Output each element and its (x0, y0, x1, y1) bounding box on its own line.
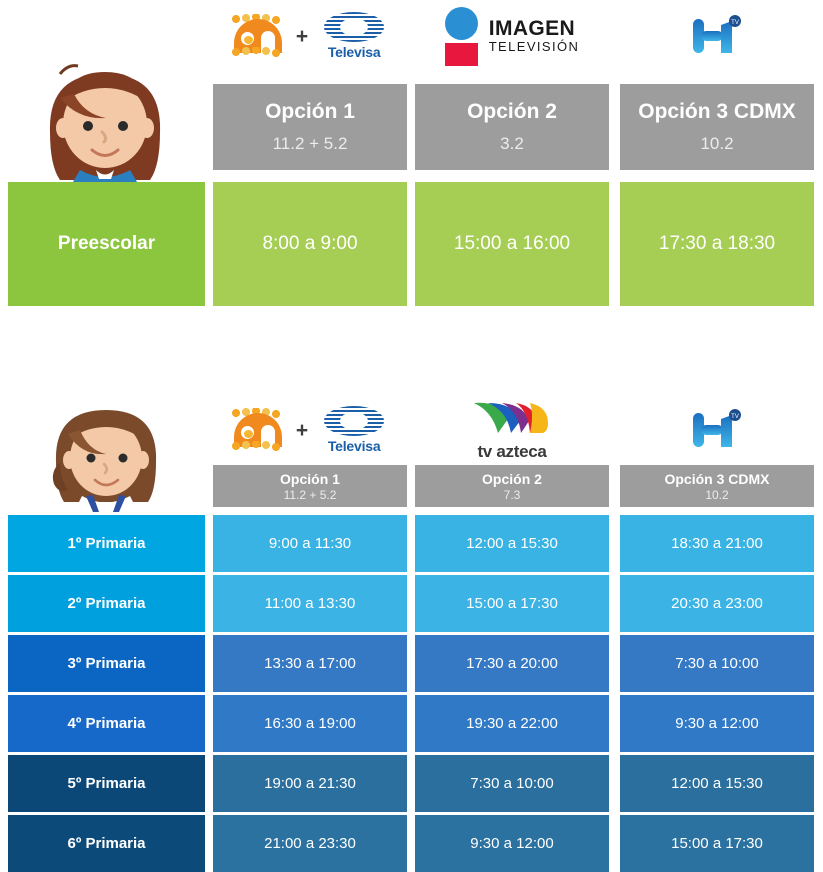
cell-time-text: 17:30 a 18:30 (659, 233, 775, 255)
cell-5primaria-opcion-3: 12:00 a 15:30 (620, 755, 814, 812)
hi-tv-logo: TV (677, 11, 757, 61)
logo-group-imagen: IMAGEN TELEVISIÓN (415, 0, 609, 72)
tv-azteca-swoosh-icon (464, 399, 560, 439)
row-label-5-primaria: 5º Primaria (8, 755, 205, 812)
cell-time-text: 16:30 a 19:00 (264, 715, 356, 732)
cell-4primaria-opcion-2: 19:30 a 22:00 (415, 695, 609, 752)
row-label-text: 1º Primaria (67, 535, 145, 552)
cell-3primaria-opcion-1: 13:30 a 17:00 (213, 635, 407, 692)
row-label-text: 2º Primaria (67, 595, 145, 612)
option-channels: 11.2 + 5.2 (284, 488, 337, 502)
girl-long-hair-svg (30, 62, 180, 187)
cell-preescolar-opcion-1: 8:00 a 9:00 (213, 182, 407, 306)
option-header-1: Opción 1 11.2 + 5.2 (213, 84, 407, 170)
televisa-logo: Televisa (315, 406, 393, 454)
row-label-2-primaria: 2º Primaria (8, 575, 205, 632)
avatar-girl-short-hair (38, 400, 173, 517)
logo-group-once-televisa: + Televisa (213, 394, 407, 466)
televisa-wordmark: Televisa (315, 438, 393, 454)
cell-time-text: 20:30 a 23:00 (671, 595, 763, 612)
logo-group-azteca: tv azteca (415, 394, 609, 466)
option-header-3: Opción 3 CDMX 10.2 (620, 465, 814, 507)
televisa-oval-icon (324, 406, 384, 436)
hi-tv-logo: TV (677, 405, 757, 455)
option-title: Opción 2 (482, 471, 542, 487)
option-channels: 10.2 (705, 488, 728, 502)
avatar-girl-long-hair (30, 62, 180, 192)
cell-time-text: 21:00 a 23:30 (264, 835, 356, 852)
plus-icon: + (296, 420, 308, 441)
televisa-oval-icon (324, 12, 384, 42)
imagen-square-icon (445, 43, 478, 66)
cell-5primaria-opcion-2: 7:30 a 10:00 (415, 755, 609, 812)
tv-azteca-wordmark: tv azteca (464, 442, 560, 462)
row-label-text: Preescolar (58, 233, 155, 255)
cell-time-text: 9:00 a 11:30 (269, 535, 351, 552)
row-label-4-primaria: 4º Primaria (8, 695, 205, 752)
option-header-3: Opción 3 CDMX 10.2 (620, 84, 814, 170)
imagen-marks (445, 7, 481, 66)
cell-time-text: 15:00 a 16:00 (454, 233, 570, 255)
cell-time-text: 19:00 a 21:30 (264, 775, 356, 792)
cell-time-text: 17:30 a 20:00 (466, 655, 558, 672)
option-header-1: Opción 1 11.2 + 5.2 (213, 465, 407, 507)
hi-tv-svg: TV (677, 405, 757, 455)
cell-5primaria-opcion-1: 19:00 a 21:30 (213, 755, 407, 812)
option-header-2: Opción 2 3.2 (415, 84, 609, 170)
svg-text:TV: TV (731, 414, 739, 420)
once-dots-bottom-icon (231, 47, 286, 58)
cell-time-text: 9:30 a 12:00 (470, 835, 553, 852)
cell-6primaria-opcion-2: 9:30 a 12:00 (415, 815, 609, 872)
cell-3primaria-opcion-2: 17:30 a 20:00 (415, 635, 609, 692)
cell-1primaria-opcion-3: 18:30 a 21:00 (620, 515, 814, 572)
imagen-wordmark: IMAGEN TELEVISIÓN (489, 18, 580, 54)
svg-text:TV: TV (731, 20, 739, 26)
cell-1primaria-opcion-1: 9:00 a 11:30 (213, 515, 407, 572)
row-label-text: 5º Primaria (67, 775, 145, 792)
tv-azteca-logo: tv azteca (464, 399, 560, 462)
hi-tv-svg: TV (677, 11, 757, 61)
row-label-text: 4º Primaria (67, 715, 145, 732)
cell-2primaria-opcion-3: 20:30 a 23:00 (620, 575, 814, 632)
cell-time-text: 7:30 a 10:00 (470, 775, 553, 792)
row-label-3-primaria: 3º Primaria (8, 635, 205, 692)
logo-group-hitv: TV (620, 0, 814, 72)
cell-6primaria-opcion-1: 21:00 a 23:30 (213, 815, 407, 872)
option-title: Opción 1 (265, 100, 355, 124)
girl-short-hair-svg (38, 400, 173, 512)
option-channels: 11.2 + 5.2 (273, 134, 348, 154)
imagen-subtitle: TELEVISIÓN (489, 40, 580, 54)
once-ninos-logo (227, 13, 289, 59)
row-label-preescolar: Preescolar (8, 182, 205, 306)
row-label-1-primaria: 1º Primaria (8, 515, 205, 572)
cell-2primaria-opcion-2: 15:00 a 17:30 (415, 575, 609, 632)
cell-time-text: 11:00 a 13:30 (265, 595, 356, 612)
imagen-circle-icon (445, 7, 478, 40)
plus-icon: + (296, 26, 308, 47)
televisa-wordmark: Televisa (315, 44, 393, 60)
cell-6primaria-opcion-3: 15:00 a 17:30 (620, 815, 814, 872)
imagen-title: IMAGEN (489, 18, 580, 40)
cell-time-text: 18:30 a 21:00 (671, 535, 763, 552)
option-channels: 7.3 (504, 488, 521, 502)
cell-4primaria-opcion-1: 16:30 a 19:00 (213, 695, 407, 752)
option-title: Opción 3 CDMX (664, 471, 769, 487)
option-channels: 3.2 (500, 134, 524, 154)
option-title: Opción 2 (467, 100, 557, 124)
cell-time-text: 15:00 a 17:30 (466, 595, 558, 612)
logo-group-once-televisa: + Televisa (213, 0, 407, 72)
cell-time-text: 12:00 a 15:30 (466, 535, 558, 552)
televisa-logo: Televisa (315, 12, 393, 60)
row-label-text: 3º Primaria (67, 655, 145, 672)
cell-time-text: 19:30 a 22:00 (466, 715, 558, 732)
cell-1primaria-opcion-2: 12:00 a 15:30 (415, 515, 609, 572)
once-ring-icon (238, 29, 257, 48)
cell-time-text: 9:30 a 12:00 (675, 715, 758, 732)
cell-preescolar-opcion-3: 17:30 a 18:30 (620, 182, 814, 306)
cell-time-text: 13:30 a 17:00 (264, 655, 356, 672)
row-label-6-primaria: 6º Primaria (8, 815, 205, 872)
cell-2primaria-opcion-1: 11:00 a 13:30 (213, 575, 407, 632)
option-title: Opción 1 (280, 471, 340, 487)
once-ninos-logo (227, 407, 289, 453)
option-channels: 10.2 (700, 134, 733, 154)
row-label-text: 6º Primaria (67, 835, 145, 852)
preescolar-section: + Televisa IMAGEN TELEVISIÓN (0, 0, 823, 72)
option-title: Opción 3 CDMX (638, 100, 796, 124)
once-ring-icon (238, 423, 257, 442)
cell-time-text: 12:00 a 15:30 (671, 775, 763, 792)
cell-time-text: 8:00 a 9:00 (262, 233, 357, 255)
cell-time-text: 7:30 a 10:00 (675, 655, 758, 672)
imagen-television-logo: IMAGEN TELEVISIÓN (445, 7, 580, 66)
cell-3primaria-opcion-3: 7:30 a 10:00 (620, 635, 814, 692)
once-dots-bottom-icon (231, 441, 286, 452)
cell-preescolar-opcion-2: 15:00 a 16:00 (415, 182, 609, 306)
cell-time-text: 15:00 a 17:30 (671, 835, 763, 852)
cell-4primaria-opcion-3: 9:30 a 12:00 (620, 695, 814, 752)
option-header-2: Opción 2 7.3 (415, 465, 609, 507)
logo-group-hitv: TV (620, 394, 814, 466)
